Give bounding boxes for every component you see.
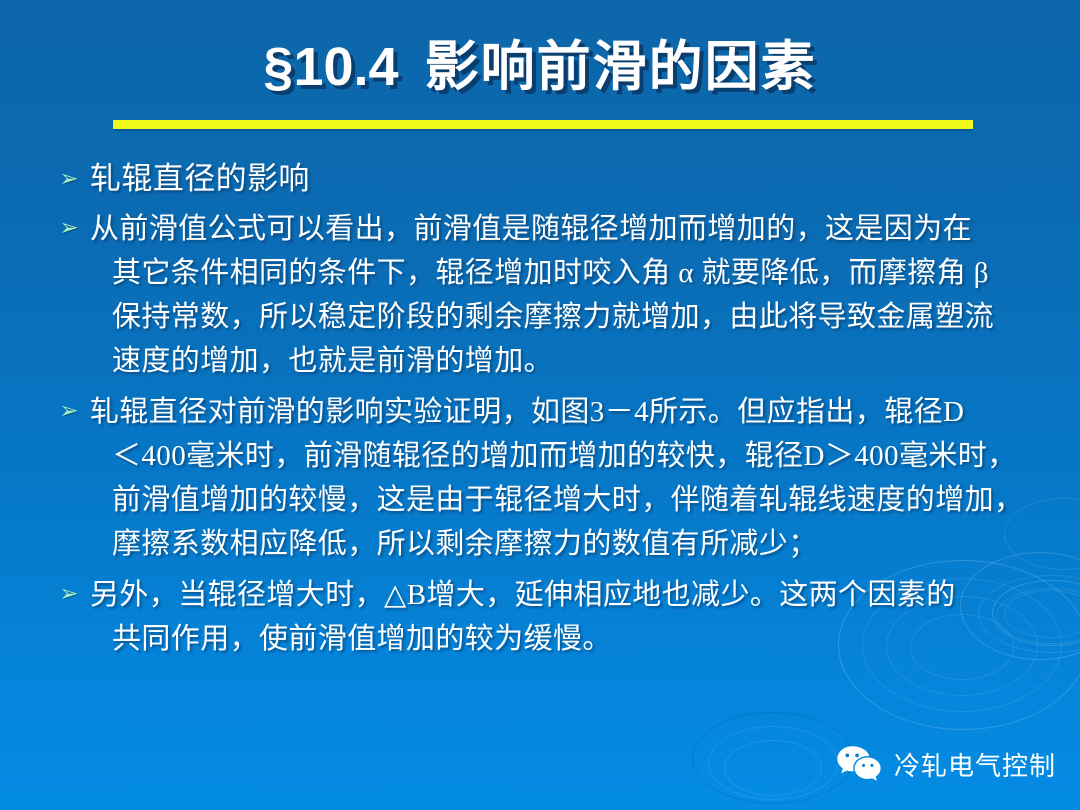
bullet-line: 从前滑值公式可以看出，前滑值是随辊径增加而增加的，这是因为在 <box>90 207 1040 251</box>
bullet-line: ＜400毫米时，前滑随辊径的增加而增加的较快，辊径D＞400毫米时， <box>90 434 1040 478</box>
bullet-arrow-icon: ➢ <box>48 158 90 200</box>
bullet-line: 另外，当辊径增大时，△B增大，延伸相应地也减少。这两个因素的 <box>90 573 1040 617</box>
bullet-line: 共同作用，使前滑值增加的较为缓慢。 <box>90 617 1040 661</box>
bullet-item: ➢ 另外，当辊径增大时，△B增大，延伸相应地也减少。这两个因素的 共同作用，使前… <box>48 573 1040 661</box>
bullet-line: 轧辊直径对前滑的影响实验证明，如图3－4所示。但应指出，辊径D <box>90 390 1040 434</box>
bullet-text: 轧辊直径对前滑的影响实验证明，如图3－4所示。但应指出，辊径D ＜400毫米时，… <box>90 390 1040 566</box>
title-heading: 影响前滑的因素 <box>425 37 817 97</box>
ripple-circle <box>708 726 838 800</box>
wechat-icon <box>836 744 882 784</box>
ripple-circle <box>692 712 854 804</box>
title-block: §10.4影响前滑的因素 <box>0 22 1080 101</box>
bullet-text: 另外，当辊径增大时，△B增大，延伸相应地也减少。这两个因素的 共同作用，使前滑值… <box>90 573 1040 661</box>
page-title: §10.4影响前滑的因素 <box>263 22 816 101</box>
bullet-item: ➢ 轧辊直径对前滑的影响实验证明，如图3－4所示。但应指出，辊径D ＜400毫米… <box>48 390 1040 566</box>
content-body: ➢ 轧辊直径的影响 ➢ 从前滑值公式可以看出，前滑值是随辊径增加而增加的，这是因… <box>48 158 1040 668</box>
bullet-item: ➢ 轧辊直径的影响 <box>48 158 1040 200</box>
slide-canvas: §10.4影响前滑的因素 ➢ 轧辊直径的影响 ➢ 从前滑值公式可以看出，前滑值是… <box>0 0 1080 810</box>
bullet-text: 从前滑值公式可以看出，前滑值是随辊径增加而增加的，这是因为在 其它条件相同的条件… <box>90 207 1040 383</box>
bullet-line: 速度的增加，也就是前滑的增加。 <box>90 339 1040 383</box>
bullet-item: ➢ 从前滑值公式可以看出，前滑值是随辊径增加而增加的，这是因为在 其它条件相同的… <box>48 207 1040 383</box>
title-number: 10.4 <box>293 37 398 97</box>
bullet-line: 摩擦系数相应降低，所以剩余摩擦力的数值有所减少； <box>90 522 1040 566</box>
watermark-label: 冷轧电气控制 <box>894 746 1056 783</box>
watermark: 冷轧电气控制 <box>836 744 1056 784</box>
bullet-line: 保持常数，所以稳定阶段的剩余摩擦力就增加，由此将导致金属塑流 <box>90 295 1040 339</box>
bullet-arrow-icon: ➢ <box>48 390 90 432</box>
bullet-line: 其它条件相同的条件下，辊径增加时咬入角 α 就要降低，而摩擦角 β <box>90 251 1040 295</box>
title-divider-rule <box>113 120 973 129</box>
ripple-circle <box>724 740 822 796</box>
bullet-line: 前滑值增加的较慢，这是由于辊径增大时，伴随着轧辊线速度的增加， <box>90 478 1040 522</box>
bullet-arrow-icon: ➢ <box>48 207 90 249</box>
bullet-line: 轧辊直径的影响 <box>90 158 1040 200</box>
bullet-text: 轧辊直径的影响 <box>90 158 1040 200</box>
title-section-number: § <box>263 37 293 97</box>
bullet-arrow-icon: ➢ <box>48 573 90 615</box>
